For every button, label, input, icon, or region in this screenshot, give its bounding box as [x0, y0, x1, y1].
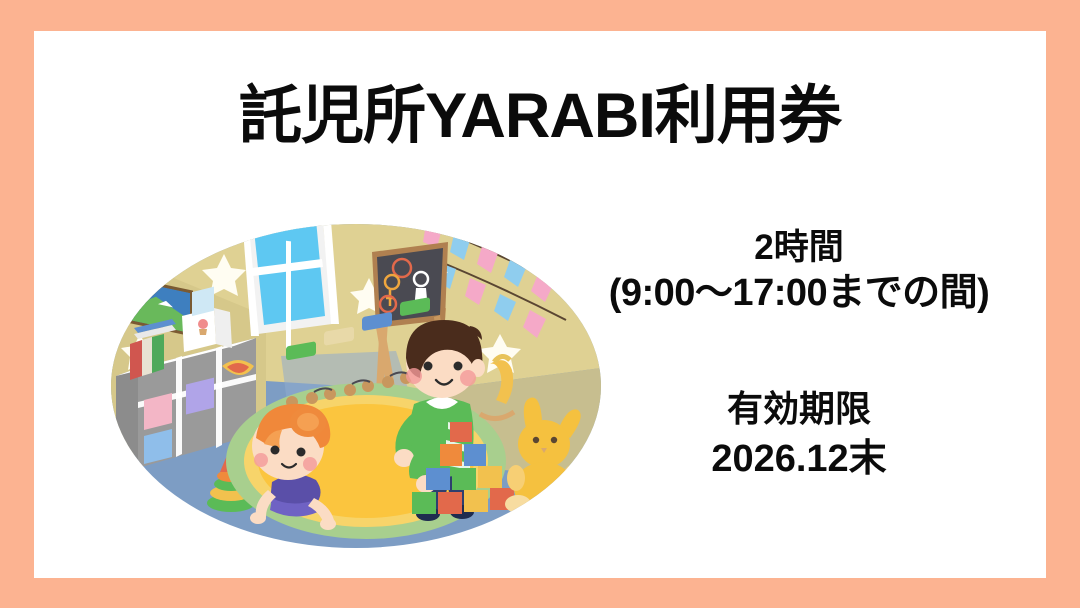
expiry-label: 有効期限	[569, 385, 1029, 434]
coupon-ticket: 託児所YARABI利用券	[0, 0, 1080, 608]
available-hours-text: (9:00〜17:00までの間)	[569, 270, 1029, 318]
expiry-block: 有効期限 2026.12末	[569, 385, 1029, 485]
coupon-card: 託児所YARABI利用券	[34, 31, 1046, 578]
nursery-playroom-illustration	[96, 216, 616, 556]
expiry-value: 2026.12末	[569, 434, 1029, 485]
coupon-info-block: 2時間 (9:00〜17:00までの間) 有効期限 2026.12末	[569, 226, 1029, 485]
page-title: 託児所YARABI利用券	[34, 85, 1046, 148]
duration-text: 2時間	[569, 226, 1029, 270]
